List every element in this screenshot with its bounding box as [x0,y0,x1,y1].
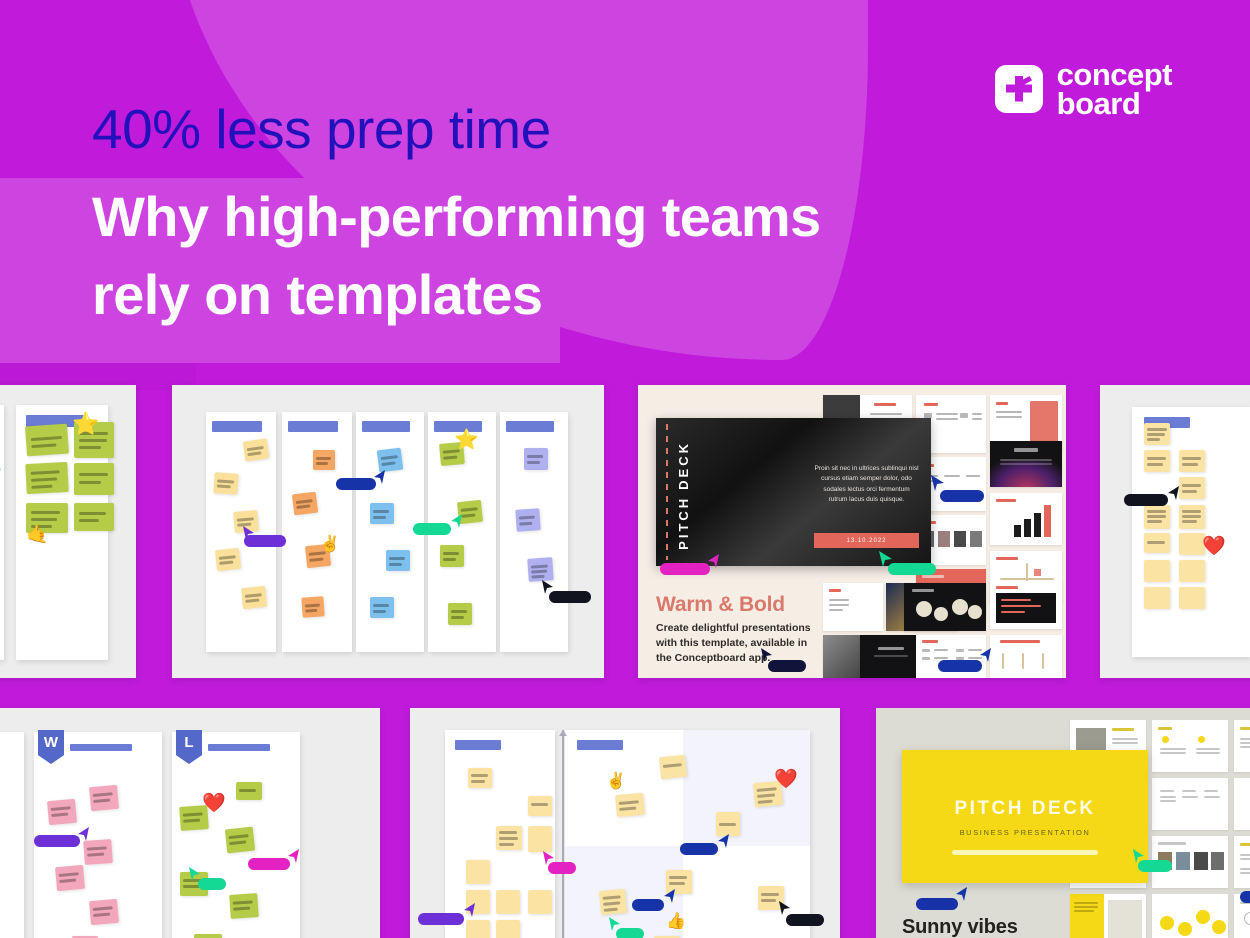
template-card-retrospective[interactable]: ⭐ 🤙 [0,385,136,678]
matrix-axis [562,730,564,938]
sticky-note[interactable] [292,492,318,516]
hero-subtitle: BUSINESS PRESENTATION [902,828,1148,837]
sticky-note[interactable] [468,768,492,788]
star-sticker-icon: ⭐ [72,413,99,435]
slide-thumb-dark [904,583,986,631]
star-sticker-icon: ⭐ [454,430,479,450]
template-card-kanban[interactable]: ✌️ ⭐ [172,385,604,678]
sticky-note[interactable] [236,782,262,800]
column-header-bar [208,744,270,751]
template-title: Warm & Bold [656,593,785,617]
board-column [0,732,24,938]
sticky-note[interactable] [496,920,520,938]
sticky-note[interactable] [370,597,394,618]
column-header-bar [506,421,554,432]
slide-thumb-chart [990,493,1062,545]
dashed-line-decoration [666,424,668,560]
slide-thumb [1234,720,1250,772]
sticky-note[interactable] [1179,587,1205,609]
column-header-bar [577,740,623,750]
sticky-note[interactable] [229,893,259,919]
slide-thumb [990,635,1062,678]
promo-banner: concept board 40% less prep time Why hig… [0,0,1250,938]
slide-thumb [1152,778,1228,830]
sticky-note[interactable] [496,890,520,914]
conceptboard-cross-icon [995,65,1043,113]
sticky-note[interactable] [83,839,113,865]
sticky-note[interactable] [528,826,552,852]
slide-thumb [1234,778,1250,830]
sticky-note[interactable] [74,463,114,495]
sticky-note[interactable] [496,826,522,850]
raised-hand-sticker-icon: 🤙 [26,525,48,543]
sticky-note[interactable] [313,450,335,470]
sticky-note[interactable] [440,545,464,567]
sticky-note[interactable] [466,920,490,938]
template-card-story-board[interactable]: ❤️ [1100,385,1250,678]
sticky-note[interactable] [386,550,410,571]
sticky-note[interactable] [615,793,645,817]
hero-vertical-title: PITCH DECK [676,441,691,550]
hero-date-badge: 13.10.2022 [814,533,919,548]
slide-thumb [823,583,883,631]
sticky-note[interactable] [515,508,540,532]
sticky-note[interactable] [89,785,119,811]
column-header-bar [212,421,262,432]
logo-line-2: board [1057,89,1172,118]
sticky-note[interactable] [1179,560,1205,582]
slide-thumb [990,581,1062,629]
sticky-note[interactable] [74,503,114,531]
sticky-note[interactable] [1144,560,1170,582]
sticky-note[interactable] [659,755,687,780]
sticky-note[interactable] [1144,533,1170,553]
sticky-note[interactable] [89,899,119,925]
column-header-bar [288,421,338,432]
peace-hand-sticker-icon: ✌️ [606,774,626,790]
template-card-sunny-vibes[interactable]: PITCH DECK BUSINESS PRESENTATION Sunny v… [876,708,1250,938]
template-title: Sunny vibes [902,916,1018,938]
warm-bold-hero-slide: PITCH DECK Proin sit nec in ultrices sub… [656,418,931,566]
sticky-note[interactable] [243,438,270,461]
sticky-note[interactable] [47,799,77,825]
slide-thumb-map [1070,894,1146,938]
sticky-note[interactable] [55,865,85,891]
slide-thumb-dark [860,635,922,678]
sticky-note[interactable] [528,890,552,914]
template-card-warm-and-bold[interactable]: PITCH DECK Proin sit nec in ultrices sub… [638,385,1066,678]
sticky-note[interactable] [528,796,552,816]
hero-eyebrow: 40% less prep time [92,102,551,157]
column-header-bar [362,421,410,432]
sticky-note[interactable] [1144,505,1170,529]
sunny-vibes-hero-slide: PITCH DECK BUSINESS PRESENTATION [902,750,1148,883]
template-card-kwl-chart[interactable]: K W L 👀 ❤️ [0,708,380,938]
sticky-note[interactable] [25,462,69,494]
heart-sticker-icon: ❤️ [774,770,798,789]
hero-title: PITCH DECK [902,798,1148,820]
hero-body-text: Proin sit nec in ultrices sublinqui nisl… [814,464,919,506]
hero-word-pitch: PITCH [676,496,691,550]
slide-thumb-dark [990,441,1062,487]
peace-hand-sticker-icon: ✌️ [320,537,340,553]
hero-underline [952,850,1098,855]
column-header-bar [70,744,132,751]
conceptboard-wordmark: concept board [1057,60,1172,119]
sticky-note[interactable] [194,934,222,938]
board-column [0,405,4,660]
slide-thumb [1234,836,1250,888]
column-header-bar [455,740,501,750]
sticky-note[interactable] [599,889,627,915]
template-card-priority-matrix[interactable]: ✌️ ❤️ 👍 [410,708,840,938]
sticky-note[interactable] [1179,505,1205,529]
page-title: Why high-performing teams rely on templa… [92,178,821,335]
sticky-note[interactable] [1144,423,1170,445]
slide-thumb [1152,720,1228,772]
heart-sticker-icon: ❤️ [202,794,226,813]
sticky-note[interactable] [466,860,490,884]
conceptboard-logo[interactable]: concept board [995,60,1172,119]
logo-line-1: concept [1057,60,1172,89]
sticky-note[interactable] [1144,450,1170,472]
sticky-note[interactable] [1179,450,1205,472]
sticky-note[interactable] [1144,587,1170,609]
sticky-note[interactable] [448,603,472,625]
sticky-note[interactable] [370,503,394,524]
thumbs-up-sticker-icon: 👍 [666,914,686,930]
heart-sticker-icon: ❤️ [1202,537,1226,556]
sticky-note[interactable] [241,586,267,609]
sticky-note[interactable] [524,448,548,470]
sticky-note[interactable] [301,596,324,617]
slide-thumb-journey [1152,894,1228,938]
sticky-note[interactable] [225,827,255,854]
sticky-note[interactable] [1179,477,1205,499]
hero-word-deck: DECK [676,441,691,490]
sticky-note[interactable] [25,424,69,457]
sticky-note[interactable] [215,548,241,571]
sticky-note[interactable] [213,472,238,495]
